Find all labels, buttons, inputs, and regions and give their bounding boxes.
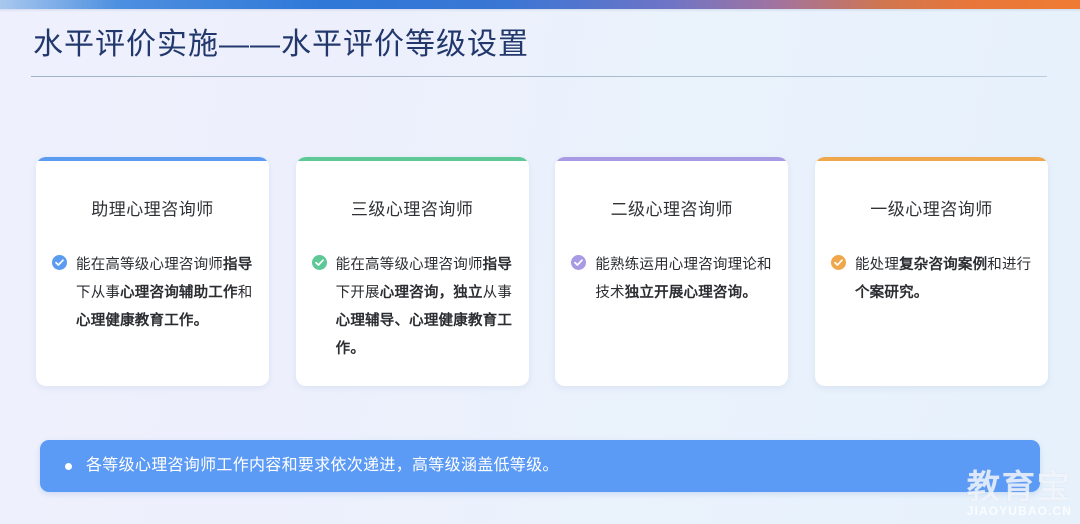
watermark-en-text: JIAOYUBAO.CN bbox=[967, 504, 1072, 518]
description-emphasis: 心理健康教育工作。 bbox=[76, 313, 208, 329]
card-body: 能处理复杂咨询案例和进行个案研究。 bbox=[831, 251, 1032, 307]
top-bar-shadow bbox=[0, 9, 1080, 12]
level-cards-row: 助理心理咨询师能在高等级心理咨询师指导下从事心理咨询辅助工作和心理健康教育工作。… bbox=[36, 157, 1048, 386]
description-emphasis: 心理咨询辅助工作 bbox=[120, 285, 238, 301]
card-accent-bar bbox=[36, 157, 269, 161]
description-text: 从事 bbox=[483, 285, 512, 301]
check-circle-icon bbox=[571, 255, 586, 270]
level-card[interactable]: 一级心理咨询师能处理复杂咨询案例和进行个案研究。 bbox=[815, 157, 1048, 386]
summary-banner-text: 各等级心理咨询师工作内容和要求依次递进，高等级涵盖低等级。 bbox=[86, 455, 559, 477]
description-text: 能处理 bbox=[855, 257, 899, 273]
card-accent-bar bbox=[815, 157, 1048, 161]
check-circle-icon bbox=[312, 255, 327, 270]
description-emphasis: 指导 bbox=[223, 257, 252, 273]
description-text: 和进行 bbox=[987, 257, 1031, 273]
card-description: 能处理复杂咨询案例和进行个案研究。 bbox=[855, 251, 1032, 307]
card-description: 能在高等级心理咨询师指导下从事心理咨询辅助工作和心理健康教育工作。 bbox=[76, 251, 253, 335]
description-text: 下从事 bbox=[76, 285, 120, 301]
slide-root: 水平评价实施——水平评价等级设置 助理心理咨询师能在高等级心理咨询师指导下从事心… bbox=[0, 0, 1080, 524]
card-body: 能熟练运用心理咨询理论和技术独立开展心理咨询。 bbox=[571, 251, 772, 307]
check-circle-icon bbox=[52, 255, 67, 270]
card-description: 能熟练运用心理咨询理论和技术独立开展心理咨询。 bbox=[595, 251, 772, 307]
summary-banner: 各等级心理咨询师工作内容和要求依次递进，高等级涵盖低等级。 bbox=[40, 440, 1040, 492]
description-emphasis: 心理咨询， bbox=[380, 285, 454, 301]
description-text: 和 bbox=[238, 285, 253, 301]
page-title: 水平评价实施——水平评价等级设置 bbox=[33, 24, 529, 66]
top-gradient-bar bbox=[0, 0, 1080, 9]
card-accent-bar bbox=[296, 157, 529, 161]
description-text: 能在高等级心理咨询师 bbox=[336, 257, 483, 273]
title-divider bbox=[31, 76, 1047, 77]
description-emphasis: 独立 bbox=[453, 285, 482, 301]
description-emphasis: 独立开展心理咨询。 bbox=[625, 285, 757, 301]
level-card[interactable]: 二级心理咨询师能熟练运用心理咨询理论和技术独立开展心理咨询。 bbox=[555, 157, 788, 386]
card-title: 三级心理咨询师 bbox=[296, 199, 529, 221]
card-description: 能在高等级心理咨询师指导下开展心理咨询，独立从事心理辅导、心理健康教育工作。 bbox=[336, 251, 513, 363]
card-title: 一级心理咨询师 bbox=[815, 199, 1048, 221]
description-emphasis: 个案研究。 bbox=[855, 285, 929, 301]
description-emphasis: 心理辅导、心理健康教育工作。 bbox=[336, 313, 512, 357]
check-circle-icon bbox=[831, 255, 846, 270]
card-title: 助理心理咨询师 bbox=[36, 199, 269, 221]
bullet-dot-icon bbox=[65, 463, 72, 470]
card-body: 能在高等级心理咨询师指导下从事心理咨询辅助工作和心理健康教育工作。 bbox=[52, 251, 253, 335]
card-body: 能在高等级心理咨询师指导下开展心理咨询，独立从事心理辅导、心理健康教育工作。 bbox=[312, 251, 513, 363]
card-title: 二级心理咨询师 bbox=[555, 199, 788, 221]
card-accent-bar bbox=[555, 157, 788, 161]
level-card[interactable]: 三级心理咨询师能在高等级心理咨询师指导下开展心理咨询，独立从事心理辅导、心理健康… bbox=[296, 157, 529, 386]
description-text: 能在高等级心理咨询师 bbox=[76, 257, 223, 273]
description-text: 下开展 bbox=[336, 285, 380, 301]
description-emphasis: 复杂咨询案例 bbox=[899, 257, 987, 273]
description-emphasis: 指导 bbox=[483, 257, 512, 273]
level-card[interactable]: 助理心理咨询师能在高等级心理咨询师指导下从事心理咨询辅助工作和心理健康教育工作。 bbox=[36, 157, 269, 386]
